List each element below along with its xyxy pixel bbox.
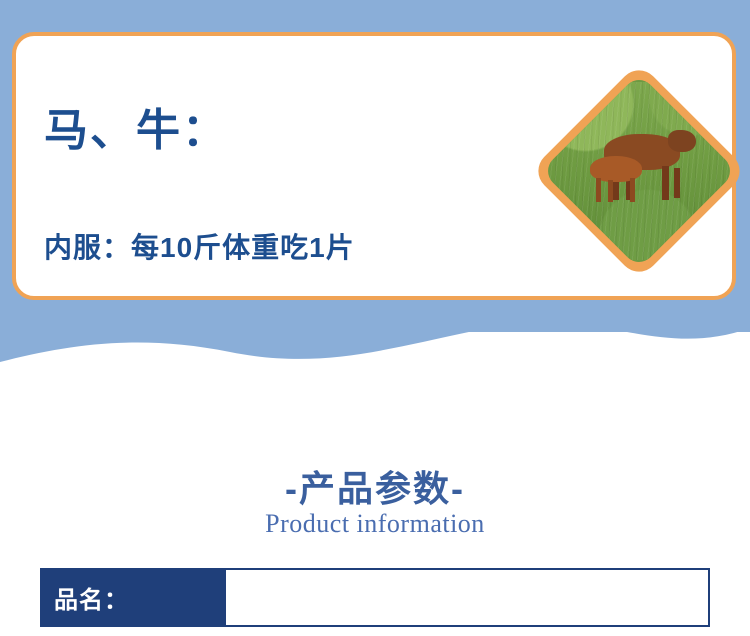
calf-leg: [608, 180, 613, 202]
cow-head: [668, 130, 696, 152]
table-row-value: [226, 568, 710, 627]
banner-wave-divider: [0, 300, 750, 380]
product-info-subtitle: Product information: [0, 509, 750, 539]
photo-inner: [550, 82, 728, 260]
card-title: 马、牛：: [44, 94, 228, 158]
instruction-card: 马、牛： 内服：每10斤体重吃1片: [12, 32, 736, 300]
top-banner: 马、牛： 内服：每10斤体重吃1片: [0, 0, 750, 380]
cow-leg: [674, 168, 680, 198]
table-row: 品名：: [40, 568, 710, 627]
photo-image-diamond: [541, 73, 736, 268]
cow-photo: [552, 84, 726, 258]
table-row-label: 品名：: [40, 568, 226, 627]
product-info-title: -产品参数-: [0, 460, 750, 512]
calf-leg: [596, 178, 601, 202]
calf-leg: [630, 178, 635, 202]
product-parameter-table: 品名：: [40, 568, 710, 627]
cow-leg: [662, 166, 669, 200]
card-subtitle: 内服：每10斤体重吃1片: [44, 226, 355, 266]
